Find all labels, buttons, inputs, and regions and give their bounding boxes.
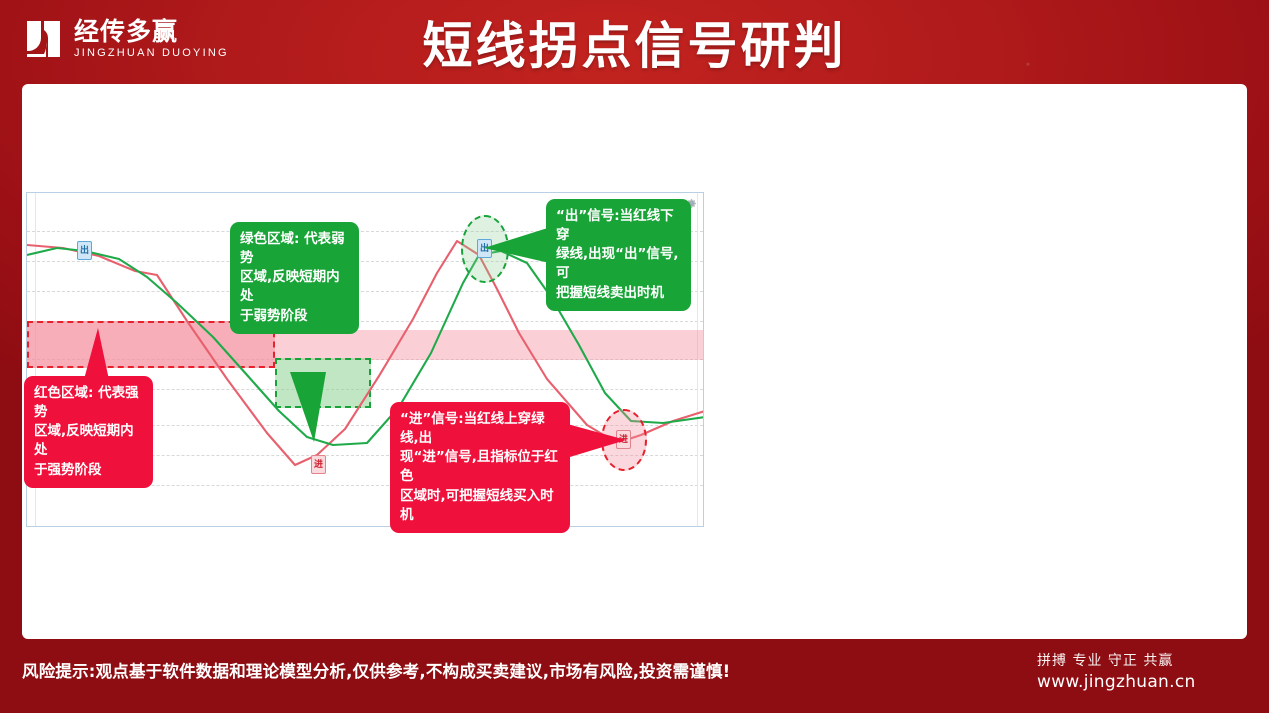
callout-line: 现“进”信号,且指标位于红色: [400, 448, 560, 486]
callout-line: 区域时,可把握短线买入时机: [400, 487, 560, 525]
header: 经传多赢 JINGZHUAN DUOYING 短线拐点信号研判: [0, 0, 1269, 78]
callout-line: 于强势阶段: [34, 461, 143, 480]
callout-line: 绿线,出现“出”信号,可: [556, 245, 681, 283]
risk-notice: 风险提示:观点基于软件数据和理论模型分析,仅供参考,不构成买卖建议,市场有风险,…: [22, 658, 922, 682]
content-card: 出 进 出 进 波段先锋 绿色区域: 代表弱势 区域,反映短期内处 于弱势阶段: [22, 84, 1247, 639]
callout-line: “出”信号:当红线下穿: [556, 207, 681, 245]
signal-chip-in-1[interactable]: 进: [311, 455, 326, 474]
callout-line: 区域,反映短期内处: [240, 268, 349, 306]
footer-slogan-block: 拼搏 专业 守正 共赢 www.jingzhuan.cn: [1037, 650, 1247, 692]
green-zone-callout: 绿色区域: 代表弱势 区域,反映短期内处 于弱势阶段: [230, 222, 359, 334]
callout-line: 绿色区域: 代表弱势: [240, 230, 349, 268]
out-signal-callout-tail: [484, 224, 554, 268]
callout-line: “进”信号:当红线上穿绿线,出: [400, 410, 560, 448]
page-title: 短线拐点信号研判: [0, 6, 1269, 78]
callout-line: 红色区域: 代表强势: [34, 384, 143, 422]
callout-line: 于弱势阶段: [240, 307, 349, 326]
company-url[interactable]: www.jingzhuan.cn: [1037, 672, 1247, 692]
footer: 风险提示:观点基于软件数据和理论模型分析,仅供参考,不构成买卖建议,市场有风险,…: [0, 648, 1269, 713]
callout-line: 区域,反映短期内处: [34, 422, 143, 460]
green-zone-callout-tail: [290, 372, 350, 442]
company-slogan: 拼搏 专业 守正 共赢: [1037, 650, 1247, 670]
callout-line: 把握短线卖出时机: [556, 284, 681, 303]
in-signal-callout-tail: [560, 420, 630, 464]
in-signal-callout: “进”信号:当红线上穿绿线,出 现“进”信号,且指标位于红色 区域时,可把握短线…: [390, 402, 570, 533]
red-zone-callout: 红色区域: 代表强势 区域,反映短期内处 于强势阶段: [24, 376, 153, 488]
signal-chip-out-1[interactable]: 出: [77, 241, 92, 260]
out-signal-callout: “出”信号:当红线下穿 绿线,出现“出”信号,可 把握短线卖出时机: [546, 199, 691, 311]
